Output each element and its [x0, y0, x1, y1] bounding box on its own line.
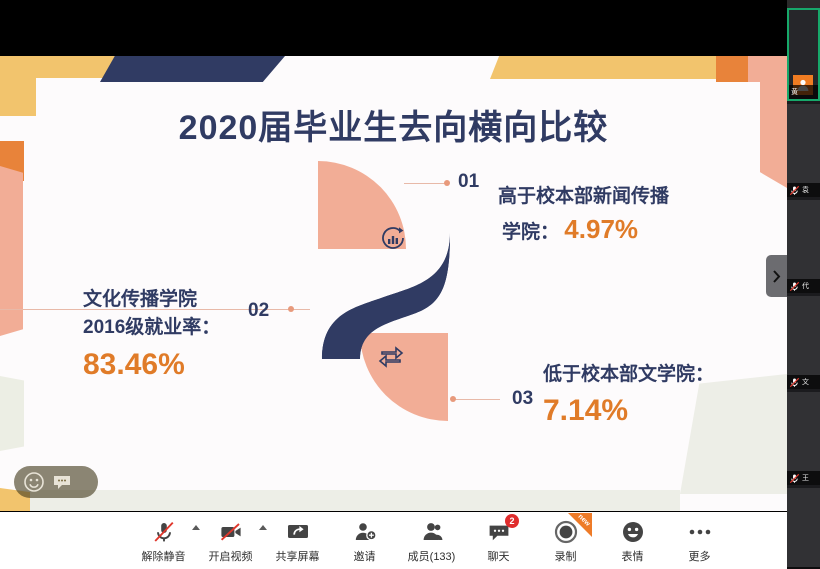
toolbar-label: 表情: [622, 548, 644, 564]
toolbar-label: 更多: [689, 548, 711, 564]
decor-gray-left: [0, 376, 24, 451]
callout-02-value: 83.46%: [83, 343, 273, 387]
zoom-meeting-window: 2020届毕业生去向横向比较: [0, 0, 820, 569]
microphone-muted-icon: [789, 281, 800, 292]
smiley-face-icon[interactable]: [23, 471, 45, 493]
toolbar-item-chat[interactable]: 聊天 2: [465, 512, 532, 564]
microphone-muted-icon: [789, 185, 800, 196]
connector-dot-03: [450, 396, 456, 402]
participant-tile[interactable]: 王: [787, 392, 820, 485]
participants-sidebar[interactable]: 黄 袁: [787, 0, 820, 569]
toolbar-item-start-video[interactable]: 开启视频: [197, 512, 264, 564]
connector-dot-02: [288, 306, 294, 312]
toolbar-item-invite[interactable]: 邀请: [331, 512, 398, 564]
decor-salmon-left-vertical: [0, 166, 23, 336]
sidebar-top-gap: [787, 0, 820, 8]
reactions-pill[interactable]: [14, 466, 98, 498]
microphone-muted-icon[interactable]: [152, 519, 176, 544]
microphone-muted-icon: [789, 377, 800, 388]
participant-tile[interactable]: 文: [787, 296, 820, 389]
callout-01-value: 4.97%: [564, 214, 638, 244]
smiley-face-icon[interactable]: [621, 519, 645, 544]
participant-name: 王: [802, 473, 809, 483]
decor-navy-parallelogram: [100, 56, 285, 82]
callout-text-03: 低于校本部文学院： 7.14%: [543, 361, 783, 432]
decor-orange-top-right: [716, 56, 748, 82]
meeting-toolbar: 解除静音 开启视频 共享屏幕: [0, 512, 787, 569]
decor-yellow-top-right: [490, 56, 718, 79]
toolbar-item-more[interactable]: 更多: [666, 512, 733, 564]
ellipsis-icon[interactable]: [687, 519, 713, 544]
callout-01-label: 学院：: [502, 222, 559, 243]
participant-name-bar: 文: [787, 375, 820, 389]
toolbar-label: 录制: [555, 548, 577, 564]
connector-line-03: [455, 399, 500, 400]
toolbar-label: 共享屏幕: [276, 548, 320, 564]
toolbar-label: 解除静音: [142, 548, 186, 564]
slide-title: 2020届毕业生去向横向比较: [0, 100, 787, 149]
record-circle-icon[interactable]: [554, 519, 578, 544]
callout-number-01: 01: [458, 171, 479, 193]
callout-text-01: 高于校本部新闻传播 学院： 4.97%: [498, 183, 758, 248]
participant-tile[interactable]: 袁: [787, 104, 820, 197]
callout-03-line1: 低于校本部文学院：: [543, 361, 783, 389]
chevron-right-icon: [772, 270, 781, 283]
participant-name-bar: 黄: [789, 85, 820, 99]
bar-chart-refresh-icon: [378, 223, 408, 253]
sidebar-collapse-tab[interactable]: [766, 255, 787, 297]
callout-text-02: 文化传播学院 2016级就业率： 83.46%: [83, 286, 273, 387]
participant-tile[interactable]: 黄: [787, 8, 820, 101]
toolbar-item-record[interactable]: 录制 new: [532, 512, 599, 564]
shared-screen-stage: 2020届毕业生去向横向比较: [0, 0, 787, 512]
chat-unread-badge: 2: [505, 514, 519, 528]
toolbar-label: 成员(133): [408, 548, 456, 564]
participant-tile[interactable]: 代: [787, 200, 820, 293]
presentation-slide: 2020届毕业生去向横向比较: [0, 56, 787, 511]
toolbar-label: 聊天: [488, 548, 510, 564]
callout-02-label: 2016级就业率：: [83, 314, 273, 342]
invite-person-icon[interactable]: [353, 519, 377, 544]
toolbar-item-share-screen[interactable]: 共享屏幕: [264, 512, 331, 564]
participant-name: 文: [802, 377, 809, 387]
participant-name-bar: 代: [787, 279, 820, 293]
callout-02-line1: 文化传播学院: [83, 286, 273, 314]
toolbar-label: 邀请: [354, 548, 376, 564]
toolbar-label: 开启视频: [209, 548, 253, 564]
participant-name: 袁: [802, 185, 809, 195]
toolbar-item-unmute[interactable]: 解除静音: [130, 512, 197, 564]
participant-name-bar: 袁: [787, 183, 820, 197]
toolbar-item-participants[interactable]: 成员(133): [398, 512, 465, 564]
swap-arrows-icon: [376, 341, 406, 371]
participant-name: 代: [802, 281, 809, 291]
video-camera-off-icon[interactable]: [219, 519, 243, 544]
participant-tile[interactable]: 李: [787, 488, 820, 569]
toolbar-item-reactions[interactable]: 表情: [599, 512, 666, 564]
share-screen-icon[interactable]: [286, 519, 310, 544]
callout-03-value: 7.14%: [543, 394, 628, 427]
callout-01-line1: 高于校本部新闻传播: [498, 183, 758, 211]
participants-icon[interactable]: [420, 519, 444, 544]
participant-name: 黄: [791, 87, 798, 97]
slide-center-graphic: [318, 161, 448, 421]
participant-name-bar: 王: [787, 471, 820, 485]
decor-gray-bottom-band: [0, 490, 680, 511]
callout-number-03: 03: [512, 388, 533, 410]
microphone-muted-icon: [789, 473, 800, 484]
chat-bubble-icon[interactable]: [51, 471, 73, 493]
